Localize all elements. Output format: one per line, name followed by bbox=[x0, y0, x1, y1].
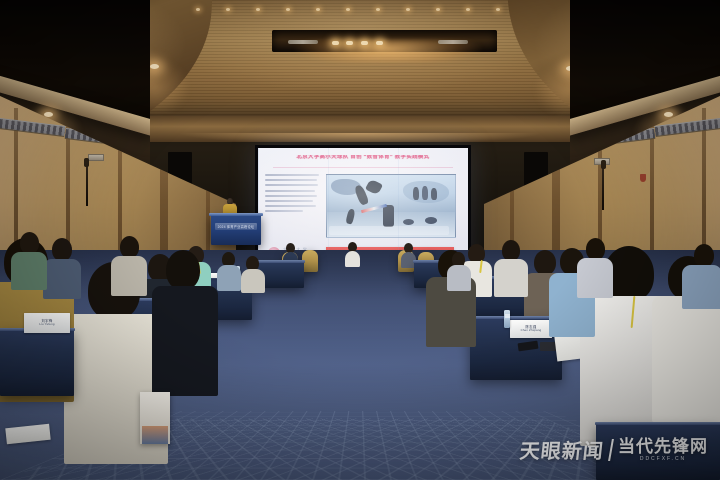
cove-diffuser-right bbox=[438, 40, 468, 44]
podium-banner-text: 2024 体育产业高峰论坛 bbox=[218, 224, 255, 229]
cove-light-4 bbox=[376, 41, 383, 45]
podium-top-surface bbox=[209, 213, 263, 216]
podium: 2024 体育产业高峰论坛 bbox=[211, 215, 261, 245]
header-light-4 bbox=[286, 8, 290, 11]
paper-bag-left[interactable] bbox=[140, 392, 170, 444]
slide-title-rule bbox=[273, 167, 454, 168]
watermark: 天眼新闻 当代先锋网 DDCFXF.CN bbox=[520, 435, 708, 464]
wall-vent-right bbox=[594, 158, 610, 165]
table-near-left bbox=[0, 330, 74, 396]
name-card-1[interactable]: 刘宇锋 Liu Yufeng bbox=[24, 313, 70, 333]
cove-light-3 bbox=[361, 41, 368, 45]
slide-body-text bbox=[265, 174, 319, 236]
watermark-left-text: 天眼新闻 bbox=[518, 435, 605, 464]
slide-photo bbox=[326, 174, 456, 238]
header-light-6 bbox=[346, 8, 350, 11]
header-light-1 bbox=[196, 8, 200, 11]
water-bottle-3[interactable] bbox=[504, 310, 510, 328]
podium-banner: 2024 体育产业高峰论坛 bbox=[215, 223, 257, 230]
header-light-7 bbox=[376, 8, 380, 11]
header-light-2 bbox=[226, 8, 230, 11]
watermark-right-text: 当代先锋网 bbox=[618, 438, 708, 455]
mic-head-left bbox=[84, 158, 89, 167]
name-card-2[interactable]: 陈志强 Chen Zhiqiang bbox=[510, 320, 552, 338]
mic-stand-right bbox=[602, 164, 604, 210]
name-card-2-en: Chen Zhiqiang bbox=[521, 329, 542, 332]
slide-title: 北京大学高尔夫球队 首创 “数智体育” 教学实践模式 bbox=[271, 155, 456, 161]
mic-head-right bbox=[601, 160, 606, 169]
front-wall-header-band bbox=[150, 116, 570, 142]
header-light-9 bbox=[436, 8, 440, 11]
watermark-url: DDCFXF.CN bbox=[640, 457, 686, 462]
header-light-5 bbox=[316, 8, 320, 11]
cove-light-1 bbox=[332, 41, 339, 45]
wall-vent-left bbox=[88, 154, 104, 161]
phone-2[interactable] bbox=[540, 342, 556, 351]
conference-hall-photo: 北京大学高尔夫球队 首创 “数智体育” 教学实践模式 bbox=[0, 0, 720, 480]
mic-stand-left bbox=[86, 162, 88, 206]
cove-diffuser-left bbox=[288, 40, 318, 44]
watermark-divider bbox=[608, 439, 614, 461]
header-light-10 bbox=[466, 8, 470, 11]
header-light-8 bbox=[406, 8, 410, 11]
header-light-11 bbox=[496, 8, 500, 11]
name-card-1-en: Liu Yufeng bbox=[39, 323, 54, 326]
header-light-3 bbox=[256, 8, 260, 11]
wall-marker-right bbox=[640, 174, 646, 182]
cove-light-2 bbox=[346, 41, 353, 45]
